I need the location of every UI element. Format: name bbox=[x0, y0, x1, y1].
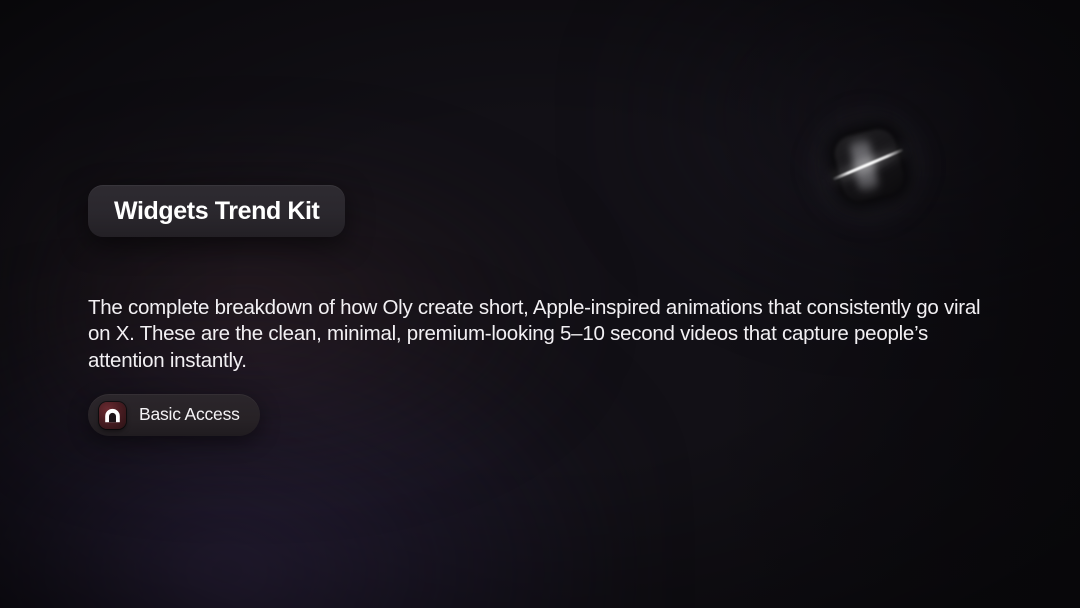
content-column: Widgets Trend Kit The complete breakdown… bbox=[88, 0, 1008, 608]
page-title-pill: Widgets Trend Kit bbox=[88, 185, 345, 237]
access-badge-label: Basic Access bbox=[139, 406, 240, 424]
page-title: Widgets Trend Kit bbox=[114, 199, 319, 224]
access-badge[interactable]: Basic Access bbox=[88, 394, 260, 436]
product-description: The complete breakdown of how Oly create… bbox=[88, 295, 1000, 375]
screen-root: Widgets Trend Kit The complete breakdown… bbox=[0, 0, 1080, 608]
arch-logo-icon bbox=[99, 402, 126, 429]
